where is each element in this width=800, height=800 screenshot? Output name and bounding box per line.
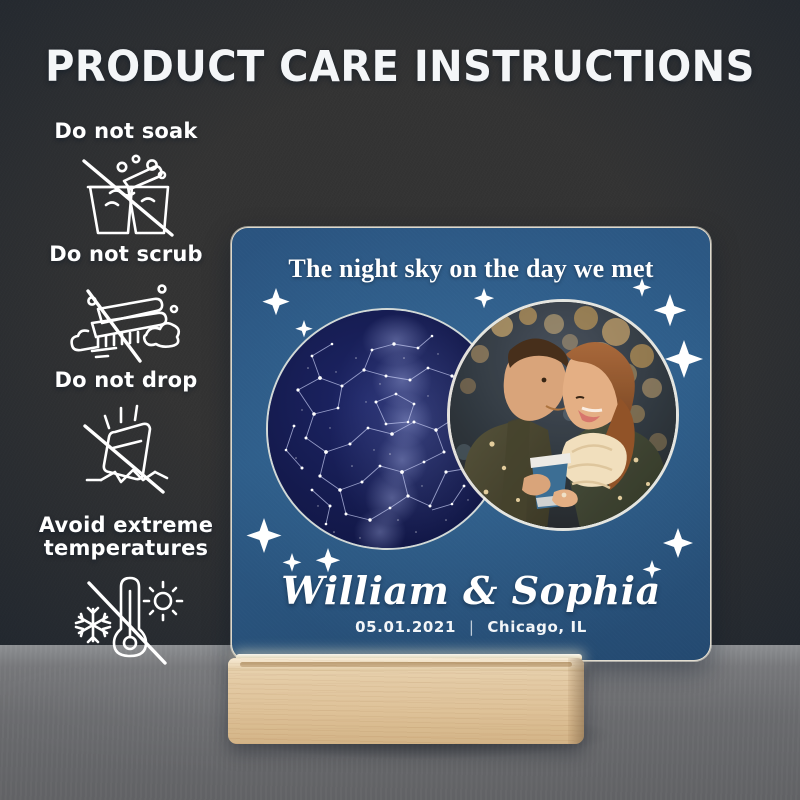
product-care-instructions-image: PRODUCT CARE INSTRUCTIONS Do not soak <box>0 0 800 800</box>
couple-photo-illustration <box>450 302 676 528</box>
care-item-avoid-extreme-temperatures: Avoid extreme temperatures <box>6 514 246 671</box>
plaque-separator: | <box>462 618 482 636</box>
acrylic-night-sky-plaque: The night sky on the day we met <box>232 228 524 229</box>
plaque-couple-names: William & Sophia <box>232 568 710 613</box>
page-title: PRODUCT CARE INSTRUCTIONS <box>28 42 772 92</box>
no-drop-icon <box>63 396 189 496</box>
base-right-face <box>568 658 584 744</box>
no-soak-icon <box>66 147 186 239</box>
no-scrub-icon <box>62 269 190 365</box>
plaque-location: Chicago, IL <box>487 618 587 636</box>
plaque-date: 05.01.2021 <box>355 618 456 636</box>
wooden-base <box>228 658 584 744</box>
plaque-face: The night sky on the day we met <box>232 228 710 660</box>
plaque-title: The night sky on the day we met <box>232 254 710 284</box>
care-item-do-not-scrub: Do not scrub <box>6 243 246 366</box>
care-item-do-not-drop: Do not drop <box>6 369 246 496</box>
care-label: Do not soak <box>6 120 246 143</box>
care-item-do-not-soak: Do not soak <box>6 120 246 239</box>
care-label: Do not scrub <box>6 243 246 266</box>
plaque-date-location: 05.01.2021 | Chicago, IL <box>232 618 710 636</box>
no-extreme-temperature-icon <box>59 563 193 671</box>
couple-photo-circle <box>450 302 676 528</box>
care-label: Avoid extreme temperatures <box>6 514 246 559</box>
base-wood-grain <box>228 658 584 744</box>
care-instruction-list: Do not soak Do <box>6 120 246 671</box>
care-label: Do not drop <box>6 369 246 392</box>
